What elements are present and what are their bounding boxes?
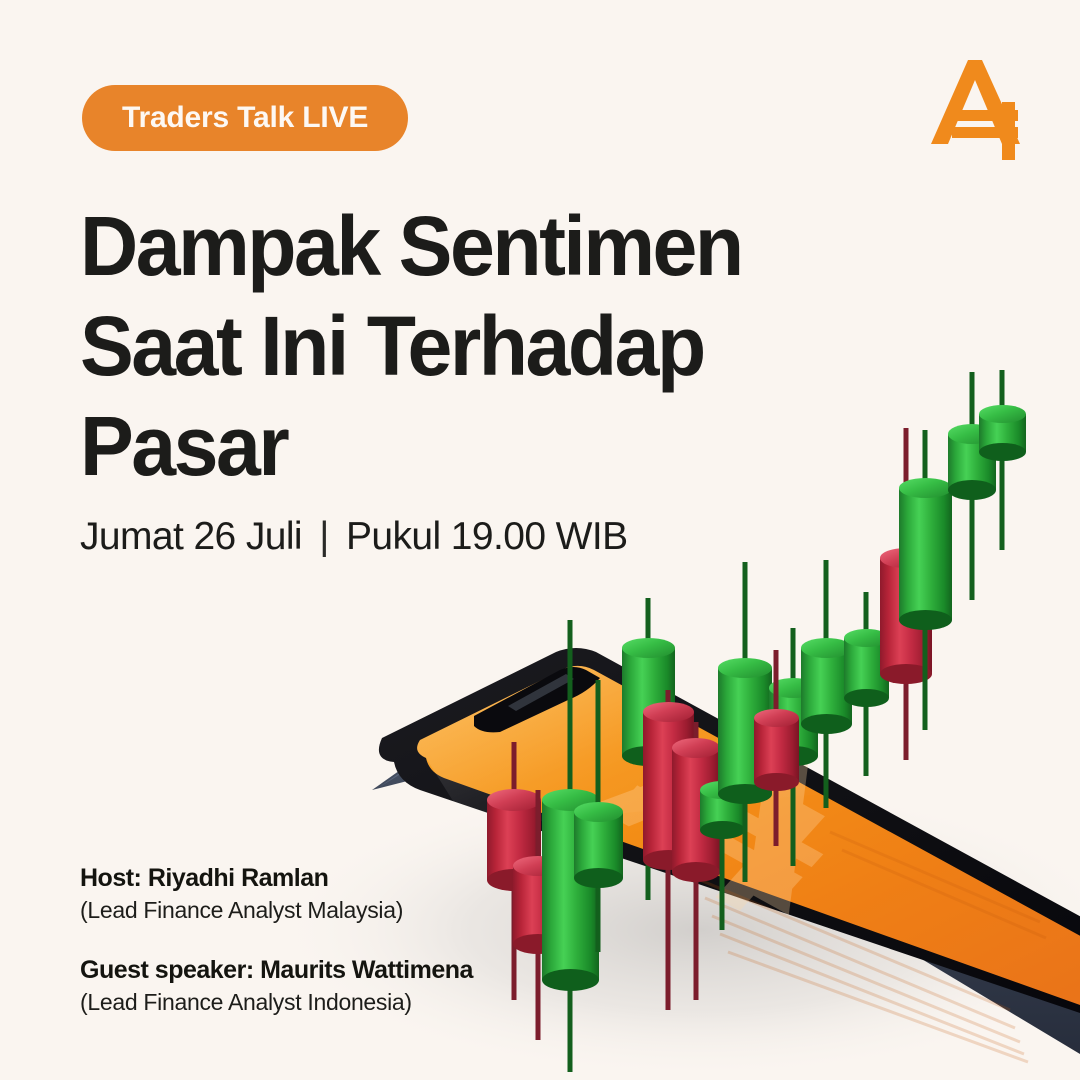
screen-sheen <box>417 666 820 828</box>
guest-block: Guest speaker: Maurits Wattimena (Lead F… <box>80 954 473 1018</box>
phone-side-rail <box>372 668 1080 1080</box>
guest-role: (Lead Finance Analyst Indonesia) <box>80 987 473 1018</box>
phone-earpiece-speaker <box>508 674 574 711</box>
phone-notch <box>474 667 600 732</box>
host-role: (Lead Finance Analyst Malaysia) <box>80 895 473 926</box>
headline-line-3: Pasar <box>80 396 790 496</box>
candle-15-bullish <box>899 430 952 730</box>
headline-line-1: Dampak Sentimen <box>80 196 790 296</box>
phone-bezel <box>379 648 1080 1040</box>
candle-2-bearish <box>513 790 563 1040</box>
candle-1-bearish <box>487 742 541 1000</box>
poster-canvas: Traders Talk LIVE Dampak Sentimen Saat I… <box>0 0 1080 1080</box>
schedule-line: Jumat 26 Juli | Pukul 19.00 WIB <box>80 513 628 561</box>
phone-volume-button <box>466 718 514 750</box>
screen-watermark-logo-icon <box>577 693 890 931</box>
guest-name: Guest speaker: Maurits Wattimena <box>80 954 473 987</box>
candle-4-bullish <box>574 680 623 952</box>
schedule-time: Pukul 19.00 WIB <box>346 515 627 558</box>
candle-8-bullish <box>700 706 745 930</box>
schedule-separator: | <box>312 515 336 558</box>
headline-line-2: Saat Ini Terhadap <box>80 296 790 396</box>
octa-a-logo-icon <box>930 58 1032 162</box>
candle-17-bullish <box>979 370 1026 550</box>
phone-rail-highlight <box>378 670 1080 1006</box>
candle-16-bullish <box>948 372 996 600</box>
candle-6-bearish <box>643 690 694 1010</box>
page-title: Dampak Sentimen Saat Ini Terhadap Pasar <box>80 196 820 496</box>
candle-12-bullish <box>801 560 852 808</box>
smartphone-device <box>372 648 1080 1080</box>
speakers-section: Host: Riyadhi Ramlan (Lead Finance Analy… <box>80 862 473 1018</box>
schedule-date: Jumat 26 Juli <box>80 515 302 558</box>
live-badge-label: Traders Talk LIVE <box>122 101 368 135</box>
candle-7-bearish <box>672 722 720 1000</box>
host-block: Host: Riyadhi Ramlan (Lead Finance Analy… <box>80 862 473 926</box>
live-badge[interactable]: Traders Talk LIVE <box>82 85 408 151</box>
candle-13-bullish <box>844 592 889 776</box>
candle-3-bullish <box>542 620 599 1072</box>
screen-stripes <box>700 832 1046 1062</box>
candle-10-bullish <box>769 628 818 866</box>
phone-screen <box>417 666 1080 1062</box>
candle-11-bearish <box>754 650 799 846</box>
candle-14-bearish <box>880 428 932 760</box>
brand-logo <box>930 58 1032 162</box>
candle-5-bullish <box>622 598 675 900</box>
host-name: Host: Riyadhi Ramlan <box>80 862 473 895</box>
candle-9-bullish <box>718 562 772 882</box>
screen-surface <box>417 666 1080 1030</box>
